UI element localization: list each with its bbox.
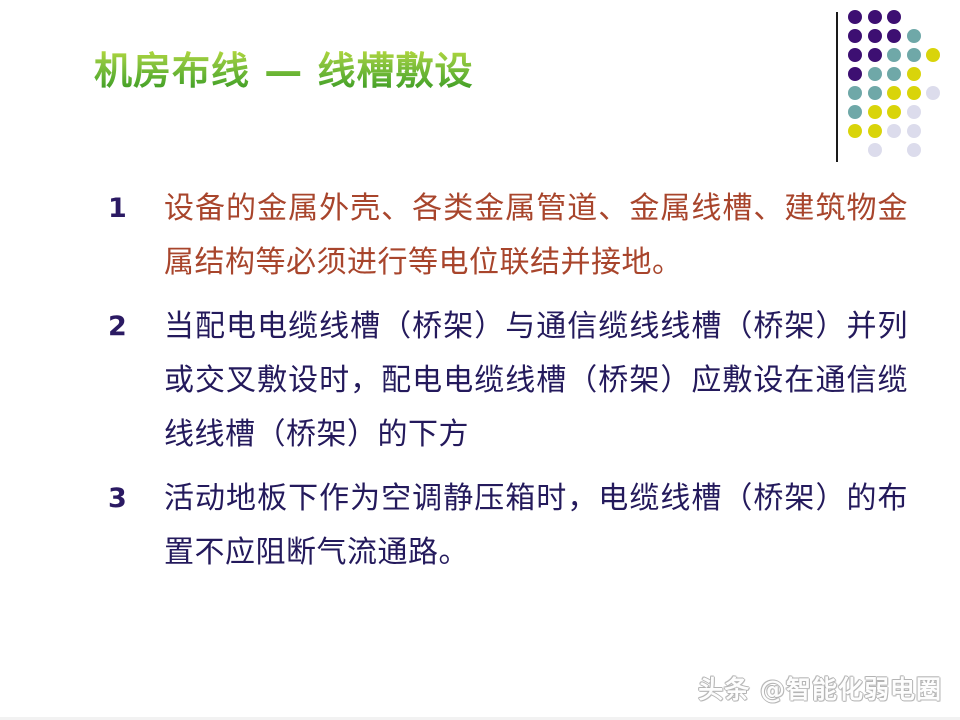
dot-r2-c2 xyxy=(887,48,901,62)
dot-r4-c3 xyxy=(907,86,921,100)
dot-r0-c2 xyxy=(887,10,901,24)
dot-r3-c2 xyxy=(887,67,901,81)
slide-canvas: 机房布线 — 线槽敷设 1设备的金属外壳、各类金属管道、金属线槽、建筑物金属结构… xyxy=(0,0,960,720)
list-item-text: 当配电电缆线槽（桥架）与通信缆线线槽（桥架）并列或交叉敷设时，配电电缆线槽（桥架… xyxy=(164,300,908,462)
list-item: 2当配电电缆线槽（桥架）与通信缆线线槽（桥架）并列或交叉敷设时，配电电缆线槽（桥… xyxy=(108,300,908,462)
dot-r4-c4 xyxy=(926,86,940,100)
dot-r5-c3 xyxy=(907,105,921,119)
dot-r4-c1 xyxy=(868,86,882,100)
dot-r3-c3 xyxy=(907,67,921,81)
dot-r1-c3 xyxy=(907,29,921,43)
dot-r2-c1 xyxy=(868,48,882,62)
dot-r0-c1 xyxy=(868,10,882,24)
dot-r3-c0 xyxy=(848,67,862,81)
dot-r5-c2 xyxy=(887,105,901,119)
dot-r6-c0 xyxy=(848,124,862,138)
dot-r1-c1 xyxy=(868,29,882,43)
list-item: 3活动地板下作为空调静压箱时，电缆线槽（桥架）的布置不应阻断气流通路。 xyxy=(108,472,908,580)
dot-r4-c2 xyxy=(887,86,901,100)
dot-r5-c1 xyxy=(868,105,882,119)
bullet-list: 1设备的金属外壳、各类金属管道、金属线槽、建筑物金属结构等必须进行等电位联结并接… xyxy=(108,182,908,590)
dot-r2-c3 xyxy=(907,48,921,62)
dot-r7-c3 xyxy=(907,143,921,157)
list-item-number: 2 xyxy=(108,300,164,354)
dot-r2-c0 xyxy=(848,48,862,62)
list-item-number: 3 xyxy=(108,472,164,526)
dot-r6-c3 xyxy=(907,124,921,138)
dot-r7-c1 xyxy=(868,143,882,157)
dot-r1-c0 xyxy=(848,29,862,43)
dot-r5-c0 xyxy=(848,105,862,119)
dot-grid-decoration xyxy=(848,10,960,160)
dot-r6-c2 xyxy=(887,124,901,138)
page-title: 机房布线 — 线槽敷设 xyxy=(94,48,473,96)
list-item: 1设备的金属外壳、各类金属管道、金属线槽、建筑物金属结构等必须进行等电位联结并接… xyxy=(108,182,908,290)
dot-r1-c2 xyxy=(887,29,901,43)
watermark-text: 头条 @智能化弱电圈 xyxy=(698,670,942,706)
list-item-text: 设备的金属外壳、各类金属管道、金属线槽、建筑物金属结构等必须进行等电位联结并接地… xyxy=(164,182,908,290)
dot-r2-c4 xyxy=(926,48,940,62)
dot-r6-c1 xyxy=(868,124,882,138)
list-item-number: 1 xyxy=(108,182,164,236)
dot-r3-c1 xyxy=(868,67,882,81)
dot-r0-c0 xyxy=(848,10,862,24)
list-item-text: 活动地板下作为空调静压箱时，电缆线槽（桥架）的布置不应阻断气流通路。 xyxy=(164,472,908,580)
header-divider xyxy=(836,12,838,162)
dot-r4-c0 xyxy=(848,86,862,100)
